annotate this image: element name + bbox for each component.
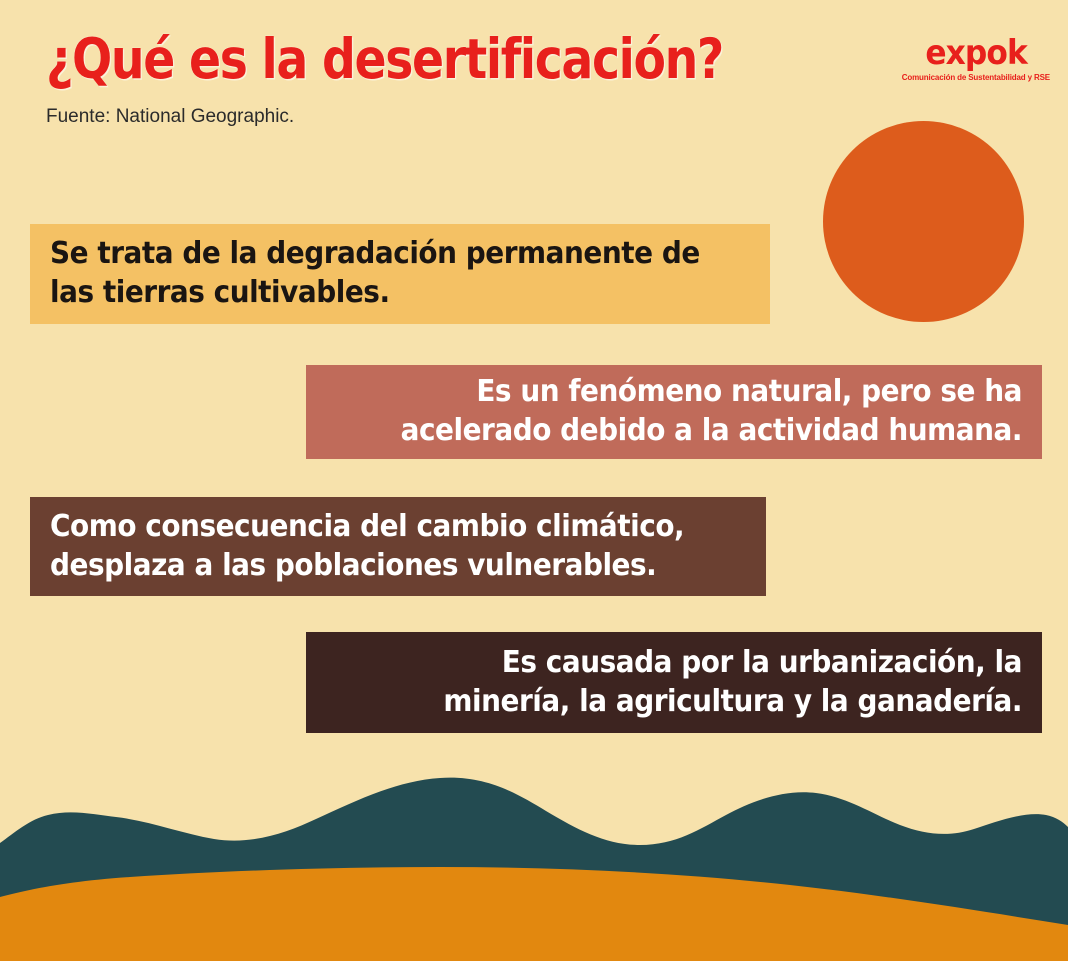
statement-card-3: Como consecuencia del cambio climático, … [30, 497, 766, 596]
statement-card-2: Es un fenómeno natural, pero se ha acele… [306, 365, 1042, 459]
statement-text-1: Se trata de la degradación permanente de… [50, 234, 701, 312]
statement-text-3: Como consecuencia del cambio climático, … [50, 507, 697, 585]
landscape-illustration [0, 771, 1068, 961]
infographic-poster: ¿Qué es la desertificación? Fuente: Nati… [0, 0, 1068, 961]
statement-card-4: Es causada por la urbanización, la miner… [306, 632, 1042, 733]
expok-logo[interactable]: expok Comunicación de Sustentabilidad y … [902, 36, 1050, 83]
statement-text-4: Es causada por la urbanización, la miner… [375, 643, 1022, 721]
sun-circle-icon [823, 121, 1024, 322]
logo-wordmark: expok [908, 36, 1044, 70]
page-title: ¿Qué es la desertificación? [46, 28, 723, 90]
source-caption: Fuente: National Geographic. [46, 105, 294, 129]
logo-tagline: Comunicación de Sustentabilidad y RSE [902, 73, 1050, 83]
statement-card-1: Se trata de la degradación permanente de… [30, 224, 770, 324]
statement-text-2: Es un fenómeno natural, pero se ha acele… [375, 372, 1022, 450]
